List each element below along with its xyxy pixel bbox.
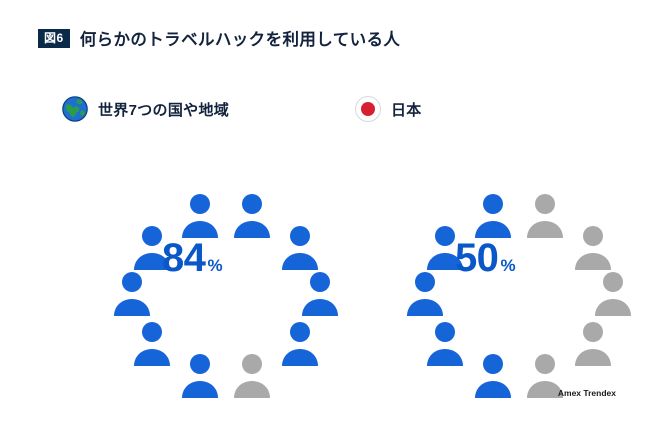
panel-japan-title: 日本 [391,99,422,120]
panel-world: 世界7つの国や地域 [52,96,332,360]
japan-flag-icon [355,96,381,122]
person-icon-muted [230,352,274,398]
pictogram-japan: 50% [345,130,625,360]
page-title: 何らかのトラベルハックを利用している人 [80,26,401,50]
value-world: 84% [52,238,332,278]
person-icon-muted [523,192,567,238]
panel-world-header: 世界7つの国や地域 [52,96,332,122]
globe-icon [62,96,88,122]
figure-badge: 図6 [38,29,70,48]
header: 図6 何らかのトラベルハックを利用している人 [38,26,400,50]
person-icon [178,352,222,398]
person-icon [423,320,467,366]
person-icon [130,320,174,366]
person-icon [471,352,515,398]
slide-root: 図6 何らかのトラベルハックを利用している人 世界7つの国や地域 [0,0,650,436]
source-note: Amex Trendex [558,388,616,398]
person-icon [178,192,222,238]
person-icon-muted [571,320,615,366]
pictogram-world: 84% [52,130,332,360]
panel-japan-header: 日本 [345,96,625,122]
panel-world-title: 世界7つの国や地域 [98,99,229,120]
person-icon [278,320,322,366]
person-icon [230,192,274,238]
person-icon [471,192,515,238]
panel-japan: 日本 [345,96,625,360]
value-japan: 50% [345,238,625,278]
